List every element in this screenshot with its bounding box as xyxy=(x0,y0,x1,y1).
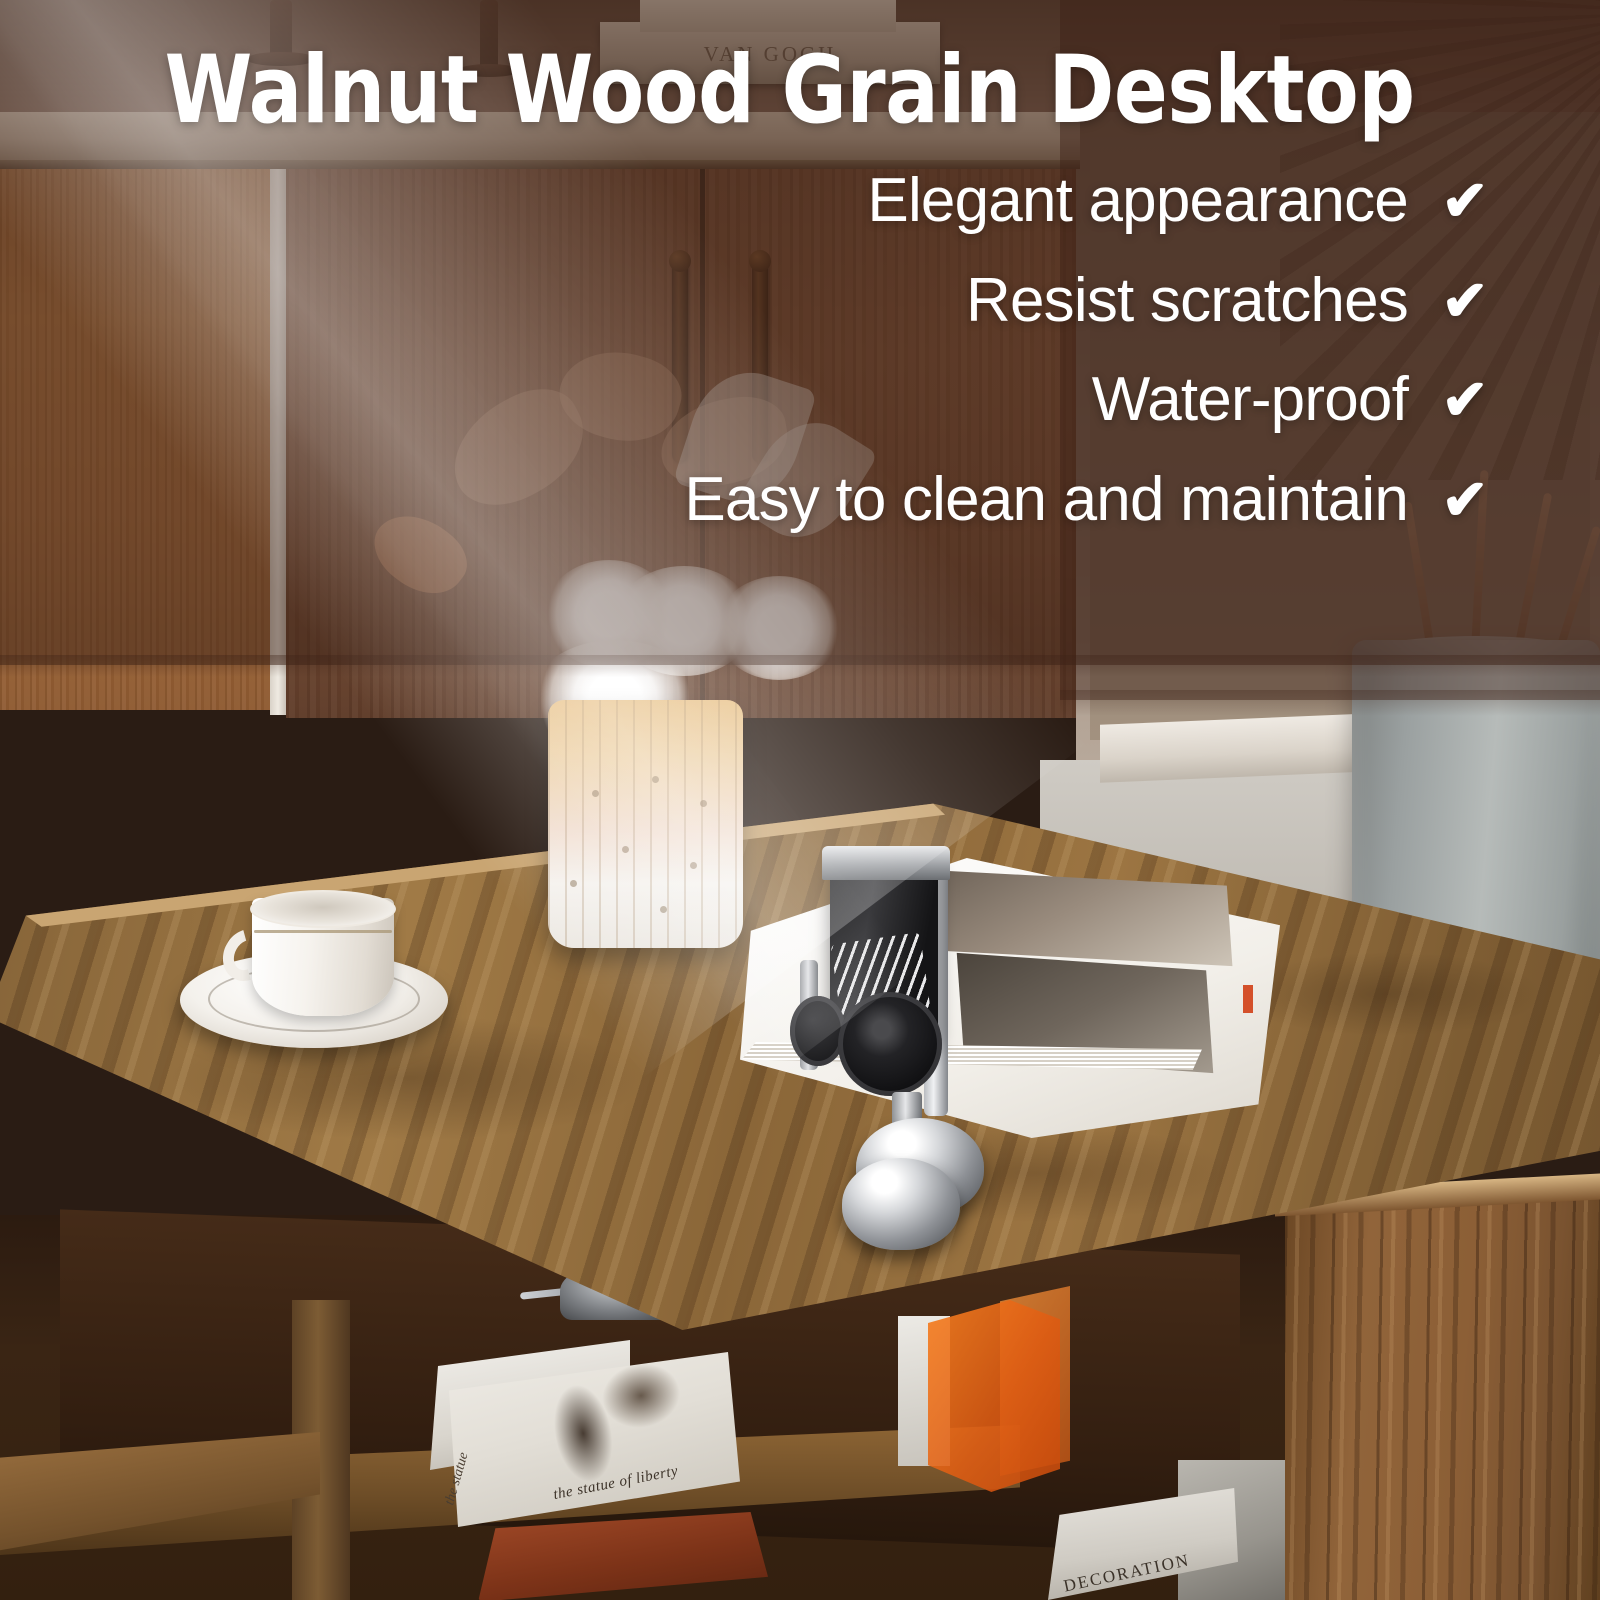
list-item: Resist scratches ✔ xyxy=(0,268,1504,334)
orange-acrylic-file-holder xyxy=(928,1300,1060,1492)
checkmark-icon: ✔ xyxy=(1426,173,1504,229)
checkmark-icon: ✔ xyxy=(1426,273,1504,329)
feature-label: Elegant appearance xyxy=(867,168,1408,234)
projector-chrome-foot-front xyxy=(842,1158,960,1250)
page-title: Walnut Wood Grain Desktop xyxy=(48,44,1552,138)
magazine-bookmark-tab xyxy=(1243,985,1253,1013)
list-item: Water-proof ✔ xyxy=(0,367,1504,433)
desk-side-panel-grain xyxy=(1285,1195,1600,1600)
product-marketing-image: VAN GOGH the statue of liberty the statu… xyxy=(0,0,1600,1600)
overlay-feather-edge-right xyxy=(1060,690,1600,716)
teacup-gold-band xyxy=(254,930,392,933)
list-item: Easy to clean and maintain ✔ xyxy=(0,467,1504,533)
list-item: Elegant appearance ✔ xyxy=(0,168,1504,234)
magazine-photo-top xyxy=(928,870,1233,966)
feature-label: Resist scratches xyxy=(966,268,1408,334)
teacup-rim xyxy=(250,890,396,928)
feature-label: Easy to clean and maintain xyxy=(684,467,1408,533)
feature-list: Elegant appearance ✔ Resist scratches ✔ … xyxy=(0,168,1600,567)
checkmark-icon: ✔ xyxy=(1426,472,1504,528)
feature-label: Water-proof xyxy=(1092,367,1408,433)
checkmark-icon: ✔ xyxy=(1426,372,1504,428)
